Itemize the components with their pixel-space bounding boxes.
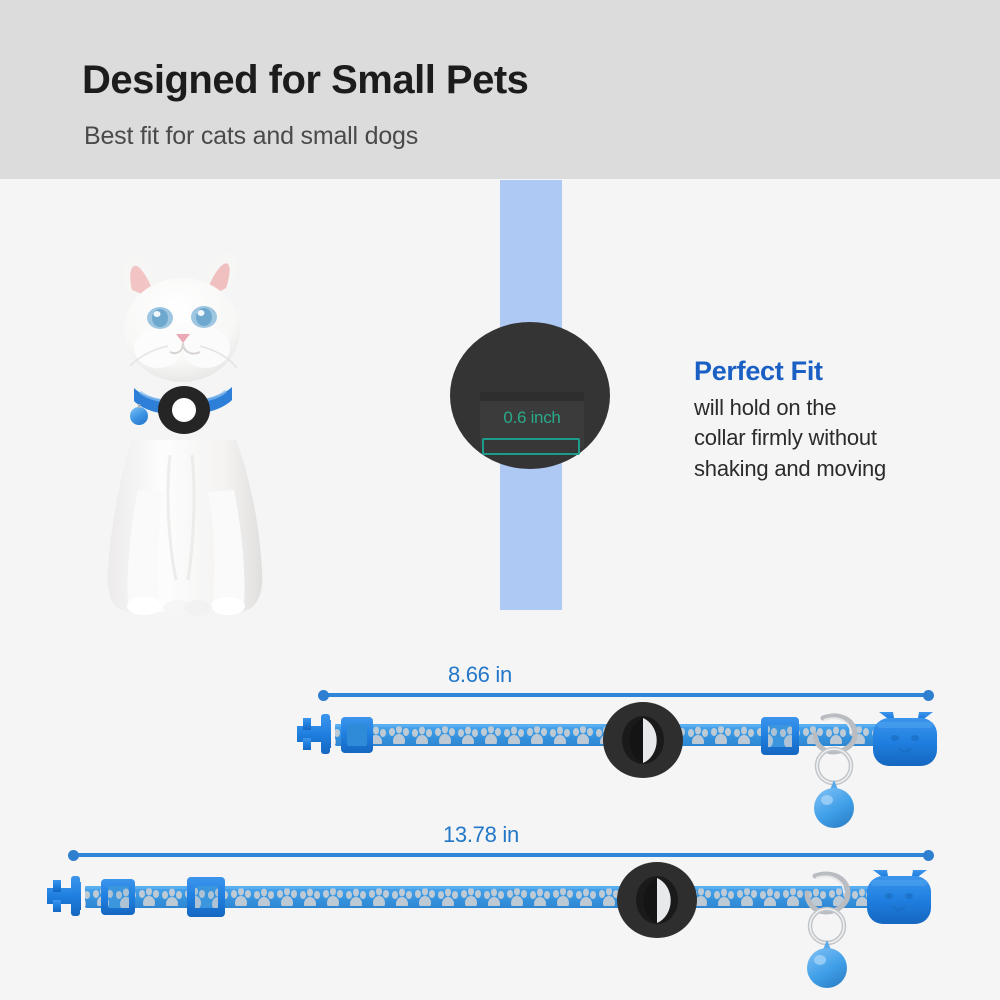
collar-small-illustration (295, 700, 945, 850)
dimension-dot-left (68, 850, 79, 861)
feature-line-3: shaking and moving (694, 454, 964, 484)
collar-large-airtag-holder (617, 862, 697, 938)
collar-large-dimension-line (72, 853, 930, 857)
feature-text-block: Perfect Fit will hold on the collar firm… (694, 356, 964, 484)
cat-illustration (80, 240, 290, 620)
collar-large-cat-face-buckle (867, 870, 931, 924)
collar-large-prong-buckle (47, 876, 81, 916)
cat-cheek-left (134, 328, 182, 368)
cat-paw-left (127, 597, 161, 615)
width-measurement-label: 0.6 inch (480, 408, 584, 428)
collar-small-cat-face-buckle (873, 712, 937, 766)
cat-collar-bell (130, 407, 148, 425)
feature-description: will hold on the collar firmly without s… (694, 393, 964, 484)
collar-small-slider-right (761, 717, 799, 755)
collar-small-dimension-line (322, 693, 930, 697)
collar-large-slider-2 (187, 877, 225, 917)
page-subtitle: Best fit for cats and small dogs (84, 122, 418, 151)
collar-small-size-label: 8.66 in (448, 662, 512, 688)
cat-eye-glint-left (154, 311, 161, 317)
collar-large-illustration (45, 862, 945, 1000)
page-title: Designed for Small Pets (82, 58, 528, 103)
dimension-dot-right (923, 850, 934, 861)
cat-paw-right (211, 597, 245, 615)
collar-large-bell (807, 940, 847, 988)
collar-small-prong-buckle (297, 714, 331, 754)
feature-line-2: collar firmly without (694, 423, 964, 453)
cat-pupil-right (196, 308, 212, 326)
collar-small-airtag-holder (603, 702, 683, 778)
holder-loop-shadow (480, 392, 584, 401)
width-measurement-bracket (482, 438, 580, 455)
cat-eye-glint-right (198, 310, 205, 316)
cat-photo (80, 240, 290, 620)
cat-pupil-left (152, 309, 168, 327)
collar-small-slider-left (341, 717, 373, 753)
cat-paw-mid-right (184, 600, 212, 616)
collar-large-size-label: 13.78 in (443, 822, 519, 848)
dimension-dot-right (923, 690, 934, 701)
feature-line-1: will hold on the (694, 393, 964, 423)
feature-title: Perfect Fit (694, 356, 964, 387)
dimension-dot-left (318, 690, 329, 701)
fit-diagram: 0.6 inch (430, 180, 650, 610)
infographic-page: Designed for Small Pets Best fit for cat… (0, 0, 1000, 1000)
cat-collar-airtag-window (172, 398, 196, 422)
collar-large-slider-1 (101, 879, 135, 915)
cat-head (124, 278, 240, 382)
collar-small-bell (814, 780, 854, 828)
